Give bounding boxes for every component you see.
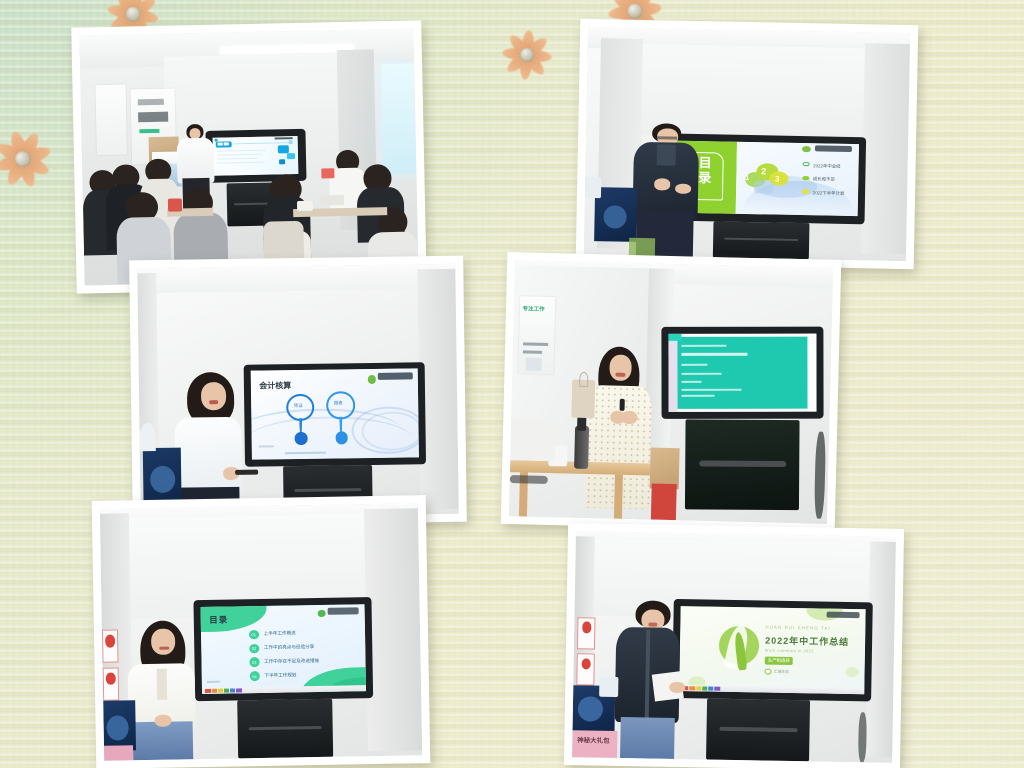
photo-male-presenter-title-slide: HUAN RUI SHENG TAI 2022年中工作总结 Work summa… <box>572 531 896 763</box>
photo-female-presenter-floral-dress: 专注工作 <box>509 260 833 524</box>
photo-classroom-audience-presentation[interactable] <box>71 20 426 293</box>
flower-petal <box>523 34 550 59</box>
slide-2-item-1: 成长和不足 <box>813 177 835 183</box>
flower-petal <box>127 0 144 15</box>
slide-3-item-1: 报表 <box>334 401 343 407</box>
photo-female-presenter-floral-dress[interactable]: 专注工作 <box>501 252 842 532</box>
flower-petal <box>0 153 25 175</box>
flower-center-icon <box>626 2 643 19</box>
display-screen-4 <box>662 327 824 419</box>
slide-6-badge: 生产制造部 <box>765 657 793 665</box>
slide-5-title: 目录 <box>209 614 228 626</box>
display-screen-3: 会计核算 凭证 报表 <box>244 362 427 467</box>
flower-petal <box>521 30 535 56</box>
slide-2-item-0: 2022年中总结 <box>813 163 840 170</box>
flower-petal <box>132 8 160 25</box>
slide-5-item-1: 工作中的亮点与经验分享 <box>264 644 315 651</box>
flower-petal <box>625 0 641 12</box>
flower-petal <box>114 0 138 17</box>
photo-female-presenter-contents-slide: 目录 01 上半年工作概述 02 工作中的亮点与经验分享 03 工作中存在不足及… <box>100 503 422 761</box>
flower-petal <box>506 32 531 59</box>
slide-2-item-2: 2022下半年计划 <box>813 190 845 197</box>
photo-male-presenter-contents-slide[interactable]: 目录 1 2 3 2022年中总结 成长和不足 20 <box>576 19 919 269</box>
flower-petal <box>17 130 42 162</box>
flower-petal <box>8 130 30 161</box>
flower-center-icon <box>519 47 534 62</box>
flower-petal <box>17 157 39 188</box>
slide-6-presenter: 汇瑞生态 <box>774 670 789 675</box>
flower-petal <box>107 3 135 20</box>
slide-5-item-3: 下半年工作规划 <box>264 672 296 679</box>
slide-5-badge-2: 03 <box>249 657 259 667</box>
slide-5-badge-0: 01 <box>249 630 259 640</box>
flower-petal <box>20 153 52 178</box>
display-screen-6: HUAN RUI SHENG TAI 2022年中工作总结 Work summa… <box>672 598 872 701</box>
photo-male-presenter-title-slide[interactable]: HUAN RUI SHENG TAI 2022年中工作总结 Work summa… <box>564 523 904 768</box>
flower-petal <box>634 1 662 17</box>
photo-female-presenter-accounting-slide: 会计核算 凭证 报表 <box>137 264 458 518</box>
slide-5-item-0: 上半年工作概述 <box>264 631 296 638</box>
photo-4-poster-text: 专注工作 <box>522 306 554 314</box>
photo-female-presenter-accounting-slide[interactable]: 会计核算 凭证 报表 <box>129 256 467 527</box>
slide-contents-4-items: 目录 01 上半年工作概述 02 工作中的亮点与经验分享 03 工作中存在不足及… <box>201 604 367 694</box>
slide-6-title: 2022年中工作总结 <box>765 634 849 648</box>
slide-title-2022: HUAN RUI SHENG TAI 2022年中工作总结 Work summa… <box>679 606 865 695</box>
photo-classroom-audience-presentation <box>79 29 418 286</box>
slide-5-badge-3: 04 <box>249 671 259 681</box>
slide-3-title: 会计核算 <box>259 380 291 391</box>
flower-petal <box>4 156 29 188</box>
flower-petal <box>630 0 656 15</box>
flower-petal <box>519 54 533 80</box>
slide-5-item-2: 工作中存在不足及改进措施 <box>264 658 319 665</box>
flower-petal <box>610 0 639 16</box>
flower-petal <box>526 49 552 63</box>
flower-petal <box>130 0 158 19</box>
shelf-label-text: 神秘大礼包 <box>577 735 610 746</box>
slide-teal-spreadsheet <box>669 334 817 412</box>
flower-petal <box>0 140 26 165</box>
flower-top-center <box>498 26 557 85</box>
photo-female-presenter-contents-slide[interactable]: 目录 01 上半年工作概述 02 工作中的亮点与经验分享 03 工作中存在不足及… <box>92 495 431 768</box>
display-screen-5: 目录 01 上半年工作概述 02 工作中的亮点与经验分享 03 工作中存在不足及… <box>194 597 374 701</box>
slide-6-subtitle: Work summary in 2022 <box>765 648 814 653</box>
flower-petal <box>522 51 547 78</box>
flower-center-icon <box>124 5 141 22</box>
slide-contents-green: 目录 1 2 3 2022年中总结 成长和不足 20 <box>672 141 859 217</box>
flower-petal <box>21 144 52 166</box>
flower-petal <box>502 47 528 61</box>
flower-center-icon <box>13 149 33 169</box>
flower-left-middle <box>0 120 62 198</box>
slide-accounting-blue: 会计核算 凭证 报表 <box>251 369 420 460</box>
slide-5-badge-1: 02 <box>249 644 259 654</box>
photo-male-presenter-contents-slide: 目录 1 2 3 2022年中总结 成长和不足 20 <box>584 27 910 261</box>
slide-3-item-0: 凭证 <box>294 403 303 409</box>
flower-petal <box>504 50 531 75</box>
